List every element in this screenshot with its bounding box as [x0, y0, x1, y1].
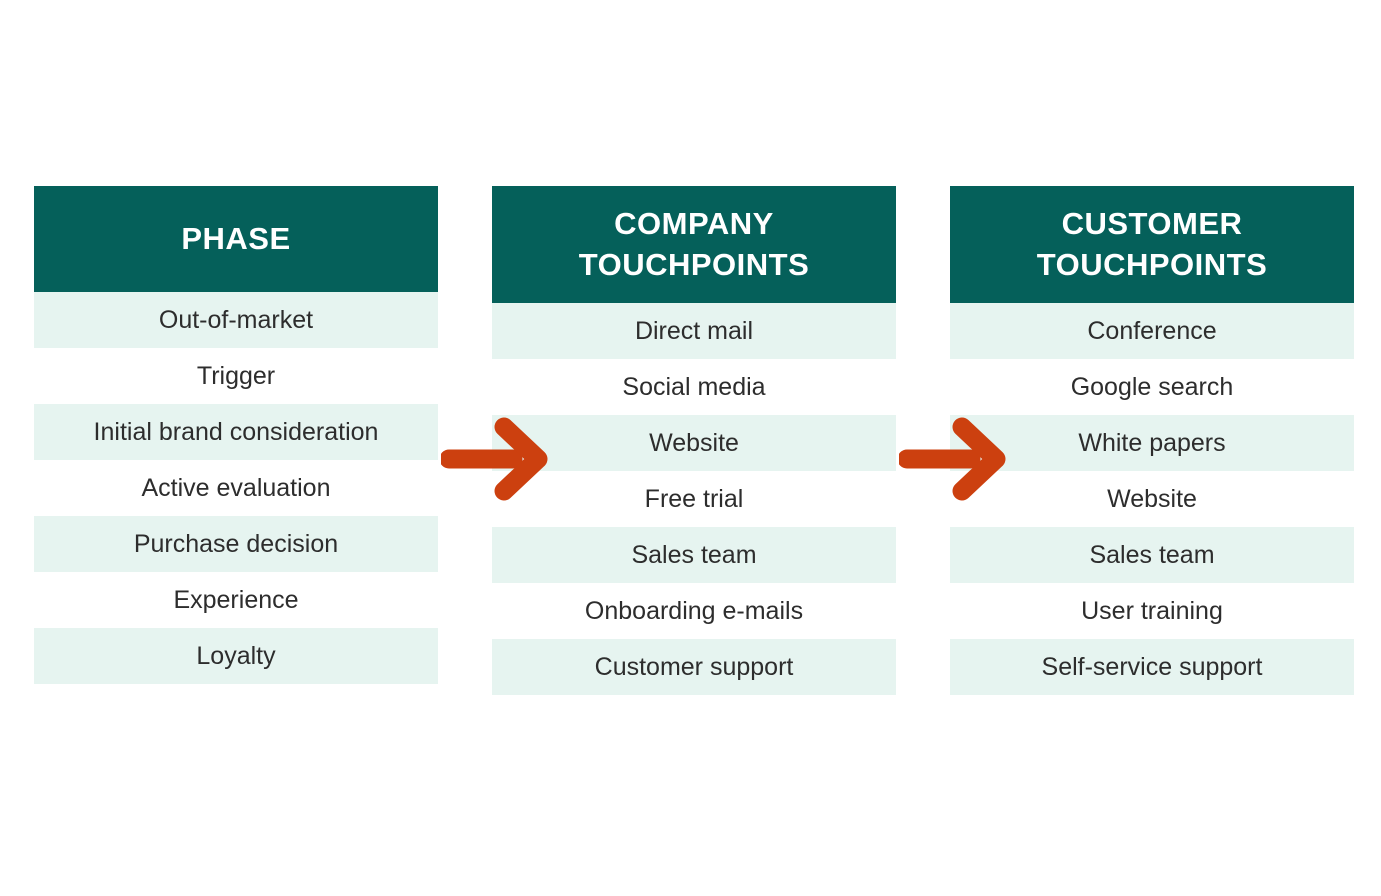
column-customer-touchpoints: CUSTOMER TOUCHPOINTS Conference Google s…: [950, 186, 1354, 695]
table-row: Website: [950, 471, 1354, 527]
table-row: Customer support: [492, 639, 896, 695]
arrow-right-icon: [441, 417, 549, 501]
table-row: White papers: [950, 415, 1354, 471]
table-row: Conference: [950, 303, 1354, 359]
table-row: Loyalty: [34, 628, 438, 684]
diagram-canvas: PHASE Out-of-market Trigger Initial bran…: [0, 0, 1381, 896]
table-row: Sales team: [950, 527, 1354, 583]
column-header-line: CUSTOMER: [1037, 204, 1268, 244]
column-company-touchpoints: COMPANY TOUCHPOINTS Direct mail Social m…: [492, 186, 896, 695]
table-row: Google search: [950, 359, 1354, 415]
table-row: Free trial: [492, 471, 896, 527]
table-row: Experience: [34, 572, 438, 628]
arrow-right-icon: [899, 417, 1007, 501]
table-row: Out-of-market: [34, 292, 438, 348]
table-row: Self-service support: [950, 639, 1354, 695]
table-row: Onboarding e-mails: [492, 583, 896, 639]
table-row: Active evaluation: [34, 460, 438, 516]
table-row: Sales team: [492, 527, 896, 583]
table-row: Initial brand consideration: [34, 404, 438, 460]
column-header-company-touchpoints: COMPANY TOUCHPOINTS: [492, 186, 896, 303]
column-header-line: TOUCHPOINTS: [579, 245, 810, 285]
column-header-customer-touchpoints: CUSTOMER TOUCHPOINTS: [950, 186, 1354, 303]
column-phase: PHASE Out-of-market Trigger Initial bran…: [34, 186, 438, 684]
table-row: Purchase decision: [34, 516, 438, 572]
table-row: Direct mail: [492, 303, 896, 359]
column-header-phase: PHASE: [34, 186, 438, 292]
column-header-line: PHASE: [181, 219, 290, 259]
column-header-line: TOUCHPOINTS: [1037, 245, 1268, 285]
table-row: Website: [492, 415, 896, 471]
table-row: User training: [950, 583, 1354, 639]
table-row: Trigger: [34, 348, 438, 404]
column-header-line: COMPANY: [579, 204, 810, 244]
table-row: Social media: [492, 359, 896, 415]
